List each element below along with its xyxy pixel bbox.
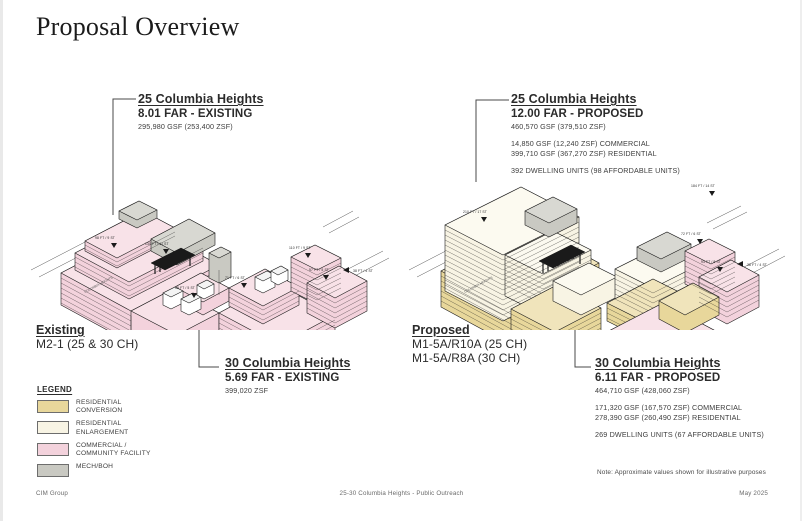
- svg-text:38 FT / 4 ST: 38 FT / 4 ST: [353, 269, 373, 273]
- legend-item-residential-enlargement: RESIDENTIAL ENLARGEMENT: [37, 420, 151, 436]
- callout-area: 295,980 GSF (253,400 ZSF): [138, 122, 264, 131]
- footer-right: May 2025: [739, 490, 768, 497]
- callout-dwelling-units: 269 DWELLING UNITS (67 AFFORDABLE UNITS): [595, 430, 764, 440]
- callout-title: 30 Columbia Heights: [595, 356, 764, 370]
- svg-text:71 FT / 6 ST: 71 FT / 6 ST: [225, 276, 245, 280]
- legend-swatch: [37, 400, 69, 413]
- svg-text:55 FT / 5 ST: 55 FT / 5 ST: [175, 286, 195, 290]
- proposed-massing-axonometric: 210 FT / 17 ST 72 FT / 6 ST 93 FT / 8 ST…: [401, 165, 791, 330]
- existing-massing-axonometric: 98 FT / 9 ST 130 FT / 11 ST 55 FT / 5 ST…: [23, 165, 393, 330]
- callout-far: 12.00 FAR - PROPOSED: [511, 108, 680, 120]
- callout-detail-commercial: 171,320 GSF (167,570 ZSF) COMMERCIAL: [595, 403, 764, 413]
- svg-text:38 FT / 4 ST: 38 FT / 4 ST: [747, 263, 767, 267]
- legend-label: MECH/BOH: [76, 463, 113, 471]
- callout-area: 464,710 GSF (428,060 ZSF): [595, 386, 764, 395]
- callout-existing-25: 25 Columbia Heights 8.01 FAR - EXISTING …: [138, 92, 264, 131]
- illustrative-note: Note: Approximate values shown for illus…: [597, 469, 766, 476]
- zoning-heading: Proposed: [412, 323, 527, 337]
- legend-item-residential-conversion: RESIDENTIAL CONVERSION: [37, 399, 151, 415]
- zoning-heading: Existing: [36, 323, 138, 337]
- legend: LEGEND RESIDENTIAL CONVERSION RESIDENTIA…: [37, 385, 151, 477]
- legend-label: RESIDENTIAL ENLARGEMENT: [76, 420, 128, 436]
- legend-label: COMMERCIAL / COMMUNITY FACILITY: [76, 442, 151, 458]
- page-title: Proposal Overview: [36, 12, 239, 42]
- callout-dwelling-units: 392 DWELLING UNITS (98 AFFORDABLE UNITS): [511, 166, 680, 176]
- svg-text:57 FT / 5 ST: 57 FT / 5 ST: [309, 268, 329, 272]
- callout-area: 460,570 GSF (379,510 ZSF): [511, 122, 680, 131]
- callout-far: 5.69 FAR - EXISTING: [225, 372, 351, 384]
- legend-item-mech-boh: MECH/BOH: [37, 463, 151, 477]
- zoning-line: M1-5A/R10A (25 CH): [412, 337, 527, 351]
- callout-proposed-30: 30 Columbia Heights 6.11 FAR - PROPOSED …: [595, 356, 764, 440]
- slide-page: Proposal Overview: [0, 0, 802, 521]
- callout-proposed-25: 25 Columbia Heights 12.00 FAR - PROPOSED…: [511, 92, 680, 176]
- svg-text:72 FT / 6 ST: 72 FT / 6 ST: [681, 232, 701, 236]
- callout-far: 8.01 FAR - EXISTING: [138, 108, 264, 120]
- legend-swatch: [37, 421, 69, 434]
- zoning-line: M1-5A/R8A (30 CH): [412, 351, 527, 365]
- zoning-existing: Existing M2-1 (25 & 30 CH): [36, 323, 138, 351]
- callout-detail-commercial: 14,850 GSF (12,240 ZSF) COMMERCIAL: [511, 139, 680, 149]
- callout-far: 6.11 FAR - PROPOSED: [595, 372, 764, 384]
- svg-text:98 FT / 9 ST: 98 FT / 9 ST: [95, 236, 115, 240]
- svg-text:130 FT / 11 ST: 130 FT / 11 ST: [145, 242, 169, 246]
- callout-area: 399,020 ZSF: [225, 386, 351, 395]
- callout-title: 30 Columbia Heights: [225, 356, 351, 370]
- svg-text:93 FT / 8 ST: 93 FT / 8 ST: [701, 260, 721, 264]
- svg-text:184 FT / 14 ST: 184 FT / 14 ST: [691, 184, 715, 188]
- svg-text:110 FT / 9 ST: 110 FT / 9 ST: [289, 246, 311, 250]
- svg-text:210 FT / 17 ST: 210 FT / 17 ST: [463, 210, 487, 214]
- callout-existing-30: 30 Columbia Heights 5.69 FAR - EXISTING …: [225, 356, 351, 395]
- callout-detail-residential: 399,710 GSF (367,270 ZSF) RESIDENTIAL: [511, 149, 680, 159]
- legend-swatch: [37, 464, 69, 477]
- callout-detail-residential: 278,390 GSF (260,490 ZSF) RESIDENTIAL: [595, 413, 764, 423]
- footer-center: 25-30 Columbia Heights - Public Outreach: [3, 490, 800, 497]
- callout-title: 25 Columbia Heights: [511, 92, 680, 106]
- legend-title: LEGEND: [37, 385, 151, 394]
- callout-title: 25 Columbia Heights: [138, 92, 264, 106]
- legend-swatch: [37, 443, 69, 456]
- zoning-proposed: Proposed M1-5A/R10A (25 CH) M1-5A/R8A (3…: [412, 323, 527, 365]
- legend-item-commercial-community-facility: COMMERCIAL / COMMUNITY FACILITY: [37, 442, 151, 458]
- zoning-line: M2-1 (25 & 30 CH): [36, 337, 138, 351]
- legend-label: RESIDENTIAL CONVERSION: [76, 399, 122, 415]
